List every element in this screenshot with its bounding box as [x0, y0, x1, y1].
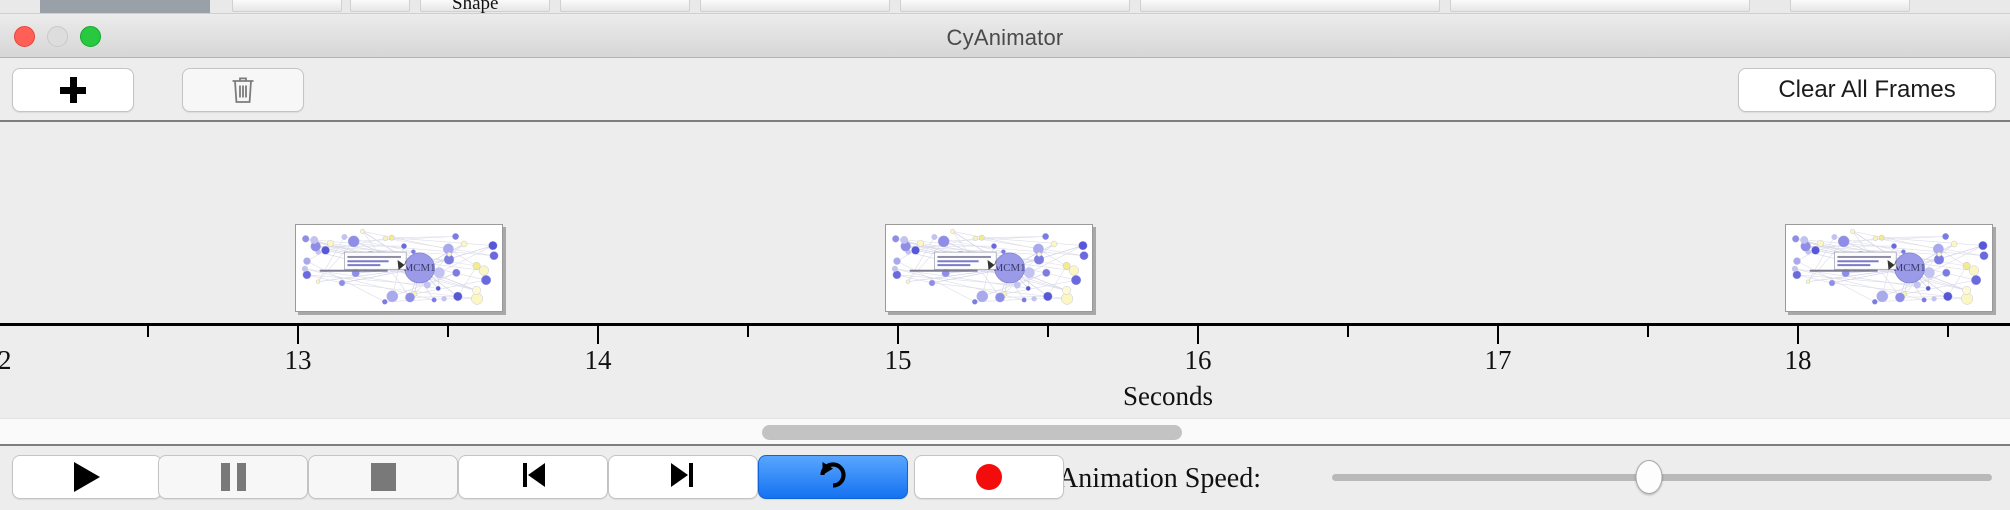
- play-icon: [74, 462, 100, 492]
- axis-title: Seconds: [1123, 381, 1213, 412]
- axis-tick-label: 16: [1185, 345, 1212, 376]
- axis-tick-minor: [1047, 326, 1049, 337]
- skip-to-end-button[interactable]: [608, 455, 758, 499]
- plus-icon: [60, 77, 86, 103]
- bg-chip: [1450, 0, 1750, 12]
- bg-chip: [900, 0, 1130, 12]
- axis-tick-label: 14: [585, 345, 612, 376]
- window-title: CyAnimator: [0, 25, 2010, 51]
- axis-tick-major: [1797, 326, 1799, 344]
- slider-thumb[interactable]: [1635, 460, 1662, 494]
- stop-icon: [371, 463, 396, 491]
- playback-controls: Animation Speed:: [0, 446, 2010, 508]
- delete-frame-button[interactable]: [182, 68, 304, 112]
- axis-tick-minor: [1947, 326, 1949, 337]
- axis-tick-minor: [147, 326, 149, 337]
- record-button[interactable]: [914, 455, 1064, 499]
- frame-toolbar: Clear All Frames: [0, 58, 2010, 122]
- window-titlebar: CyAnimator: [0, 14, 2010, 58]
- timeline-scrollbar[interactable]: [0, 418, 2010, 446]
- axis-tick-major: [1197, 326, 1199, 344]
- bg-app-label: Shape: [452, 0, 498, 14]
- skip-to-start-button[interactable]: [458, 455, 608, 499]
- skip-forward-icon: [668, 460, 698, 495]
- axis-tick-label: 15: [885, 345, 912, 376]
- axis-tick-label: 12: [0, 345, 12, 376]
- bg-chip: [350, 0, 410, 12]
- animation-speed-slider[interactable]: [1332, 470, 1992, 484]
- axis-tick-major: [297, 326, 299, 344]
- animation-speed-label: Animation Speed:: [1058, 463, 1261, 495]
- background-app-strip: Shape: [0, 0, 2010, 14]
- record-icon: [976, 464, 1002, 490]
- axis-tick-major: [1497, 326, 1499, 344]
- bg-chip: [1140, 0, 1440, 12]
- axis-tick-minor: [747, 326, 749, 337]
- bg-chip: [232, 0, 342, 12]
- play-button[interactable]: [12, 455, 162, 499]
- cyanimator-window: CyAnimator Clear All Frames Seconds 1213…: [0, 14, 2010, 510]
- bg-chip: [1790, 0, 1910, 12]
- add-frame-button[interactable]: [12, 68, 134, 112]
- pause-button[interactable]: [158, 455, 308, 499]
- svg-text:MCM1: MCM1: [994, 262, 1026, 274]
- skip-backward-icon: [518, 460, 548, 495]
- axis-tick-label: 18: [1785, 345, 1812, 376]
- bg-dark-chip: [40, 0, 210, 14]
- frame-thumbnail-1[interactable]: MCM1: [295, 224, 503, 312]
- axis-tick-minor: [1347, 326, 1349, 337]
- bg-chip: [700, 0, 890, 12]
- axis-tick-minor: [1647, 326, 1649, 337]
- timeline-axis: [0, 323, 2010, 326]
- svg-text:MCM1: MCM1: [1894, 262, 1926, 274]
- axis-tick-major: [897, 326, 899, 344]
- timeline-panel[interactable]: Seconds 12131415161718 MCM1 MCM1: [0, 122, 2010, 418]
- axis-tick-label: 13: [285, 345, 312, 376]
- clear-all-frames-button[interactable]: Clear All Frames: [1738, 68, 1996, 112]
- axis-tick-label: 17: [1485, 345, 1512, 376]
- scrollbar-thumb[interactable]: [762, 425, 1182, 440]
- svg-text:MCM1: MCM1: [404, 262, 436, 274]
- loop-button[interactable]: [758, 455, 908, 499]
- frame-thumbnail-3[interactable]: MCM1: [1785, 224, 1993, 312]
- stop-button[interactable]: [308, 455, 458, 499]
- axis-tick-major: [597, 326, 599, 344]
- axis-tick-minor: [447, 326, 449, 337]
- trash-icon: [230, 75, 256, 105]
- bg-chip: [560, 0, 690, 12]
- pause-icon: [221, 463, 246, 491]
- loop-icon: [816, 458, 850, 497]
- frame-thumbnail-2[interactable]: MCM1: [885, 224, 1093, 312]
